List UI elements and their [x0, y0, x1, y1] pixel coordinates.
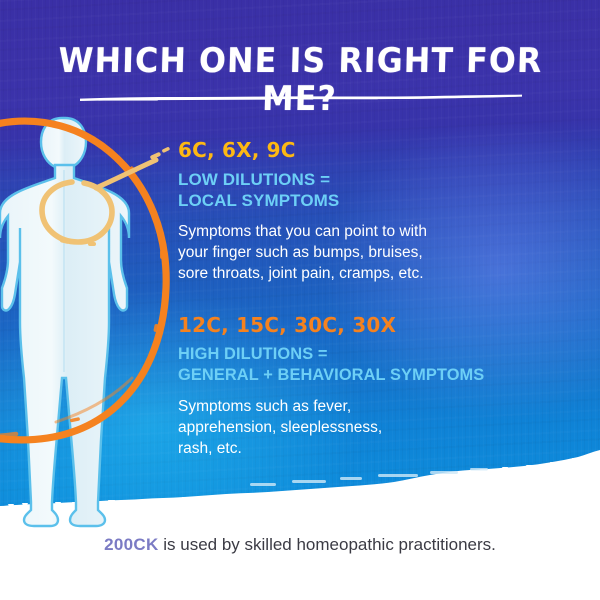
footer-note-text: is used by skilled homeopathic practitio…	[159, 535, 496, 554]
paint-torn-edge	[0, 450, 600, 512]
footer-potency-label: 200CK	[104, 535, 158, 554]
brush-underline-icon	[78, 94, 524, 102]
headline-text: WHICH ONE IS RIGHT FOR ME?	[20, 42, 580, 118]
dilution-heading-high: HIGH DILUTIONS = GENERAL + BEHAVIORAL SY…	[178, 344, 578, 386]
dose-label-high: 12C, 15C, 30C, 30X	[178, 313, 578, 337]
dose-label-low: 6C, 6X, 9C	[178, 138, 578, 162]
footer-note: 200CK is used by skilled homeopathic pra…	[0, 534, 600, 556]
headline: WHICH ONE IS RIGHT FOR ME?	[0, 42, 600, 118]
description-high: Symptoms such as fever, apprehension, sl…	[178, 396, 578, 459]
section-high-dilutions: 12C, 15C, 30C, 30X HIGH DILUTIONS = GENE…	[178, 313, 578, 459]
dilution-heading-low: LOW DILUTIONS = LOCAL SYMPTOMS	[178, 169, 578, 211]
section-low-dilutions: 6C, 6X, 9C LOW DILUTIONS = LOCAL SYMPTOM…	[178, 138, 578, 284]
description-low: Symptoms that you can point to with your…	[178, 221, 578, 284]
infographic-poster: WHICH ONE IS RIGHT FOR ME? 6C, 6X, 9C LO…	[0, 0, 600, 600]
